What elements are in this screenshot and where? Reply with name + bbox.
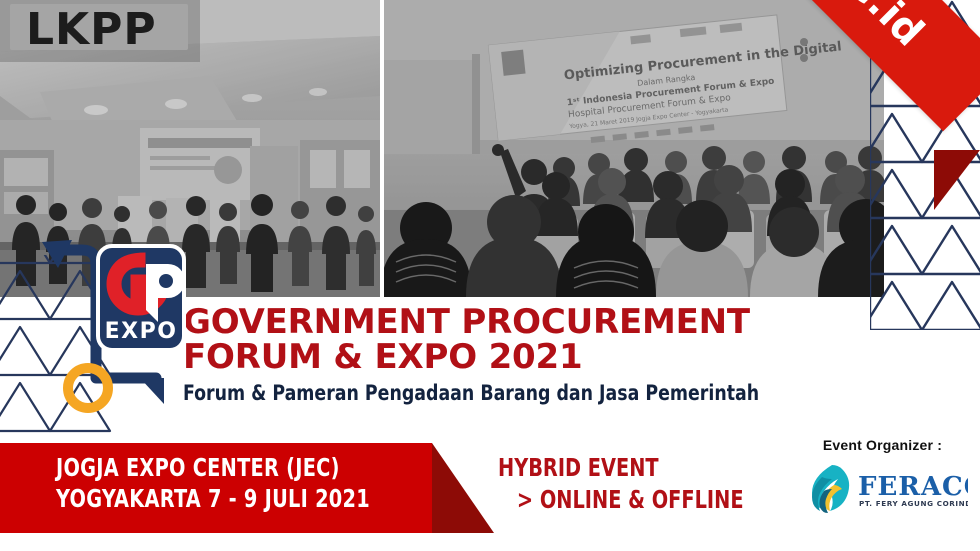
- organizer-label: Event Organizer :: [790, 437, 975, 453]
- yellow-ring-icon: [68, 368, 108, 408]
- venue-ribbon-fold: [432, 443, 494, 533]
- feraco-name: FERACO: [858, 472, 968, 502]
- photo-tint-overlay: [384, 0, 884, 297]
- feraco-tagline: PT. FERY AGUNG CORINDOTAMA: [859, 499, 968, 508]
- headline-block: GOVERNMENT PROCUREMENT FORUM & EXPO 2021…: [183, 305, 809, 406]
- hybrid-line-2: > ONLINE & OFFLINE: [498, 484, 744, 516]
- subtitle: Forum & Pameran Pengadaan Barang dan Jas…: [183, 380, 759, 406]
- feraco-logo-svg: FERACO PT. FERY AGUNG CORINDOTAMA: [798, 461, 968, 513]
- gp-expo-logo: EXPO: [36, 228, 188, 420]
- hybrid-line-1: HYBRID EVENT: [498, 452, 744, 484]
- venue-block: JOGJA EXPO CENTER (JEC) YOGYAKARTA 7 - 9…: [56, 452, 421, 514]
- organizer-block: Event Organizer : FERACO PT. FERY AGUNG …: [790, 437, 975, 513]
- seminar-audience-photo: Optimizing Procurement in the Digital Da…: [384, 0, 884, 297]
- feraco-logo: FERACO PT. FERY AGUNG CORINDOTAMA: [790, 461, 975, 513]
- gp-expo-logo-svg: EXPO: [36, 228, 188, 420]
- venue-line-2: YOGYAKARTA 7 - 9 JULI 2021: [56, 483, 370, 514]
- event-banner: LKPP: [0, 0, 980, 551]
- title-line-1: GOVERNMENT PROCUREMENT: [183, 305, 809, 340]
- venue-line-1: JOGJA EXPO CENTER (JEC): [56, 452, 370, 483]
- hybrid-event-block: HYBRID EVENT > ONLINE & OFFLINE: [498, 452, 784, 516]
- title-line-2: FORUM & EXPO 2021: [183, 340, 809, 375]
- feraco-flame-icon: [812, 465, 849, 513]
- logo-expo-text: EXPO: [105, 319, 178, 344]
